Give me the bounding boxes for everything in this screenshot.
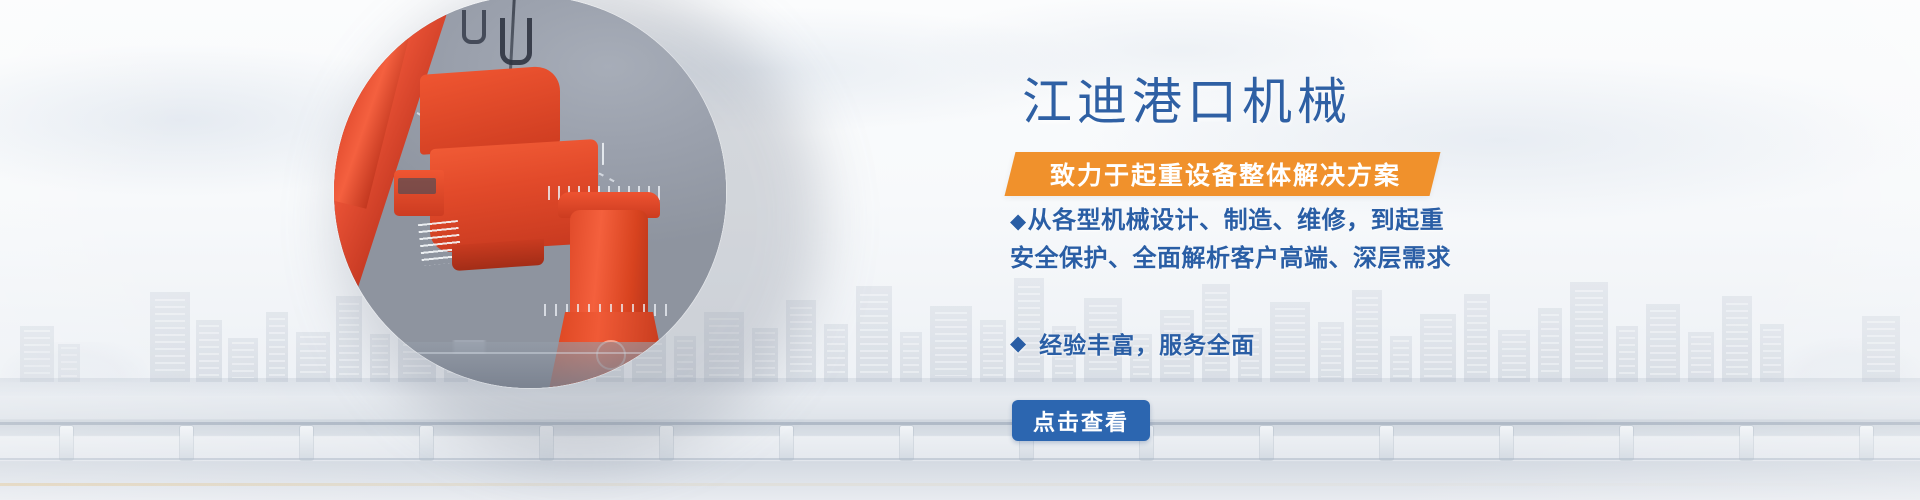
brand-title: 江迪港口机械 xyxy=(1022,62,1352,134)
photo-sea xyxy=(334,342,726,388)
highlight-point-text: 经验丰富，服务全面 xyxy=(1039,326,1255,360)
diamond-bullet-icon: ◆ xyxy=(1010,210,1027,233)
description-block: ◆从各型机械设计、制造、维修，到起重 安全保护、全面解析客户高端、深层需求 xyxy=(1010,202,1750,277)
tagline-ribbon: 致力于起重设备整体解决方案 xyxy=(1005,152,1441,196)
crane-operator-cab xyxy=(394,170,444,216)
crane-hook-secondary xyxy=(462,10,486,44)
highlight-point: ◆ 经验丰富，服务全面 xyxy=(1010,326,1255,360)
description-line-1-text: 从各型机械设计、制造、维修，到起重 xyxy=(1028,207,1445,234)
banner-content: 江迪港口机械 致力于起重设备整体解决方案 ◆从各型机械设计、制造、维修，到起重 … xyxy=(1010,0,1790,500)
crane-photo-circle xyxy=(334,0,726,388)
description-line-2: 安全保护、全面解析客户高端、深层需求 xyxy=(1010,240,1750,277)
hero-banner: 江迪港口机械 致力于起重设备整体解决方案 ◆从各型机械设计、制造、维修，到起重 … xyxy=(0,0,1920,500)
description-line-1: ◆从各型机械设计、制造、维修，到起重 xyxy=(1010,202,1750,240)
diamond-bullet-icon-2: ◆ xyxy=(1010,331,1027,356)
crane-hook xyxy=(500,18,532,65)
cta-button[interactable]: 点击查看 xyxy=(1012,400,1150,441)
tagline-text: 致力于起重设备整体解决方案 xyxy=(1050,156,1401,192)
